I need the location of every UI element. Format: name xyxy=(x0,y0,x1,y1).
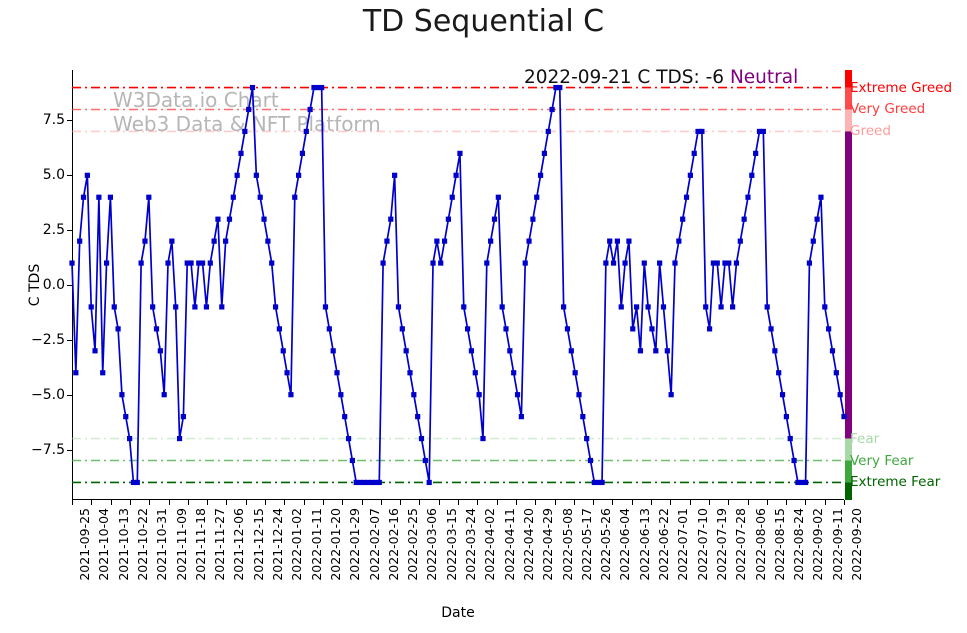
series-marker xyxy=(684,195,689,200)
y-axis-tick-label: 0.0 xyxy=(43,277,65,293)
series-marker xyxy=(615,239,620,244)
series-marker xyxy=(139,260,144,265)
x-axis-tick-mark xyxy=(844,500,845,505)
series-marker xyxy=(772,348,777,353)
series-marker xyxy=(396,304,401,309)
series-marker xyxy=(384,239,389,244)
series-marker xyxy=(411,392,416,397)
series-marker xyxy=(154,326,159,331)
x-axis-tick-label: 2022-02-25 xyxy=(405,508,420,581)
series-marker xyxy=(734,260,739,265)
series-marker xyxy=(284,370,289,375)
chart-title: TD Sequential C xyxy=(0,4,967,39)
x-axis-tick-label: 2022-02-07 xyxy=(367,508,382,581)
series-marker xyxy=(407,370,412,375)
series-marker xyxy=(672,260,677,265)
x-axis-tick-label: 2021-11-09 xyxy=(174,508,189,581)
series-marker xyxy=(446,217,451,222)
x-axis-tick-label: 2022-05-26 xyxy=(598,508,613,581)
series-marker xyxy=(611,260,616,265)
series-marker xyxy=(580,414,585,419)
x-axis-tick-mark xyxy=(439,500,440,505)
x-axis-tick-mark xyxy=(709,500,710,505)
series-marker xyxy=(822,304,827,309)
x-axis-tick-label: 2022-07-01 xyxy=(675,508,690,581)
series-marker xyxy=(838,392,843,397)
x-axis-tick-mark xyxy=(149,500,150,505)
x-axis-tick-label: 2022-01-11 xyxy=(309,508,324,581)
series-marker xyxy=(818,195,823,200)
series-marker xyxy=(703,304,708,309)
x-axis-tick-label: 2022-06-22 xyxy=(656,508,671,581)
series-marker xyxy=(776,370,781,375)
series-marker xyxy=(707,326,712,331)
x-axis-tick-mark xyxy=(632,500,633,505)
series-marker xyxy=(204,304,209,309)
series-marker xyxy=(434,239,439,244)
series-marker xyxy=(599,480,604,485)
x-axis-tick-mark xyxy=(400,500,401,505)
series-marker xyxy=(826,326,831,331)
y-axis-tick-label: −5.0 xyxy=(31,387,65,403)
y-axis-tick-mark xyxy=(67,450,72,451)
x-axis-tick-mark xyxy=(555,500,556,505)
series-marker xyxy=(200,260,205,265)
y-axis-tick-label: 7.5 xyxy=(43,112,65,128)
x-axis-tick-mark xyxy=(612,500,613,505)
x-axis-tick-mark xyxy=(304,500,305,505)
series-marker xyxy=(377,480,382,485)
x-axis-tick-mark xyxy=(825,500,826,505)
series-marker xyxy=(765,304,770,309)
series-marker xyxy=(181,414,186,419)
x-axis-tick-mark xyxy=(728,500,729,505)
chart-page: TD Sequential C W3Data.io Chart Web3 Dat… xyxy=(0,0,967,633)
y-axis-tick-mark xyxy=(67,395,72,396)
series-marker xyxy=(277,326,282,331)
series-marker xyxy=(815,217,820,222)
x-axis-tick-label: 2021-11-27 xyxy=(212,508,227,581)
series-marker xyxy=(834,370,839,375)
series-marker xyxy=(450,195,455,200)
series-marker xyxy=(292,195,297,200)
zone-label: Fear xyxy=(850,431,879,447)
series-marker xyxy=(150,304,155,309)
series-marker xyxy=(511,370,516,375)
x-axis-tick-label: 2022-04-20 xyxy=(521,508,536,581)
series-marker xyxy=(807,260,812,265)
series-marker xyxy=(261,217,266,222)
x-axis-tick-mark xyxy=(535,500,536,505)
y-axis-tick-label: −2.5 xyxy=(31,332,65,348)
series-marker xyxy=(388,217,393,222)
series-marker xyxy=(223,239,228,244)
series-line xyxy=(72,88,844,483)
series-marker xyxy=(742,217,747,222)
series-marker xyxy=(565,326,570,331)
x-axis-tick-mark xyxy=(690,500,691,505)
x-axis-tick-mark xyxy=(111,500,112,505)
x-axis-tick-label: 2022-03-24 xyxy=(463,508,478,581)
series-marker xyxy=(346,436,351,441)
series-marker xyxy=(588,458,593,463)
series-marker xyxy=(642,260,647,265)
x-axis-tick-label: 2022-07-10 xyxy=(695,508,710,581)
series-marker xyxy=(269,260,274,265)
series-marker xyxy=(477,392,482,397)
x-axis-tick-mark xyxy=(323,500,324,505)
series-marker xyxy=(653,348,658,353)
y-axis-tick-mark xyxy=(67,120,72,121)
series-marker xyxy=(768,326,773,331)
x-axis-tick-label: 2021-10-13 xyxy=(116,508,131,581)
series-marker xyxy=(649,326,654,331)
series-marker xyxy=(788,436,793,441)
x-axis-tick-label: 2022-01-02 xyxy=(289,508,304,581)
series-marker xyxy=(231,195,236,200)
x-axis-tick-label: 2022-04-29 xyxy=(540,508,555,581)
series-marker xyxy=(453,173,458,178)
series-marker xyxy=(162,392,167,397)
x-axis-tick-label: 2022-07-28 xyxy=(733,508,748,581)
series-marker xyxy=(715,260,720,265)
series-marker xyxy=(227,217,232,222)
series-marker xyxy=(519,414,524,419)
x-axis-tick-mark xyxy=(670,500,671,505)
x-axis-tick-label: 2022-04-02 xyxy=(482,508,497,581)
series-marker xyxy=(718,304,723,309)
x-axis-tick-mark xyxy=(651,500,652,505)
series-marker xyxy=(342,414,347,419)
x-axis-tick-mark xyxy=(477,500,478,505)
series-marker xyxy=(692,151,697,156)
series-marker xyxy=(127,436,132,441)
series-marker xyxy=(626,239,631,244)
series-marker xyxy=(457,151,462,156)
series-marker xyxy=(526,239,531,244)
x-axis-tick-mark xyxy=(381,500,382,505)
zone-label: Very Greed xyxy=(850,101,925,117)
series-marker xyxy=(646,304,651,309)
x-axis-tick-label: 2022-01-20 xyxy=(328,508,343,581)
series-marker xyxy=(215,217,220,222)
series-marker xyxy=(400,326,405,331)
series-marker xyxy=(142,239,147,244)
series-marker xyxy=(638,348,643,353)
series-marker xyxy=(85,173,90,178)
series-marker xyxy=(350,458,355,463)
plot-area: −7.5−5.0−2.50.02.55.07.5 2021-09-252021-… xyxy=(72,70,844,500)
series-marker xyxy=(92,348,97,353)
series-marker xyxy=(250,85,255,90)
series-marker xyxy=(496,195,501,200)
series-marker xyxy=(534,195,539,200)
series-marker xyxy=(308,107,313,112)
series-marker xyxy=(603,260,608,265)
x-axis-tick-mark xyxy=(593,500,594,505)
series-marker xyxy=(841,414,846,419)
series-marker xyxy=(488,239,493,244)
y-axis-tick-label: −7.5 xyxy=(31,442,65,458)
series-marker xyxy=(665,348,670,353)
x-axis-tick-mark xyxy=(458,500,459,505)
x-axis-tick-label: 2021-12-06 xyxy=(231,508,246,581)
series-marker xyxy=(100,370,105,375)
y-axis-label: C TDS xyxy=(27,264,43,306)
series-marker xyxy=(258,195,263,200)
series-marker xyxy=(546,129,551,134)
x-axis-tick-label: 2022-09-02 xyxy=(810,508,825,581)
series-marker xyxy=(749,173,754,178)
series-marker xyxy=(461,304,466,309)
series-marker xyxy=(811,239,816,244)
x-axis-tick-label: 2021-09-25 xyxy=(77,508,92,581)
x-axis-tick-mark xyxy=(91,500,92,505)
x-axis-tick-mark xyxy=(130,500,131,505)
series-marker xyxy=(427,480,432,485)
x-axis-tick-label: 2022-04-11 xyxy=(502,508,517,581)
series-marker xyxy=(661,304,666,309)
series-marker xyxy=(730,304,735,309)
x-axis-tick-label: 2022-08-24 xyxy=(791,508,806,581)
x-axis-tick-label: 2022-07-19 xyxy=(714,508,729,581)
series-marker xyxy=(338,392,343,397)
series-marker xyxy=(753,151,758,156)
x-axis-tick-mark xyxy=(342,500,343,505)
series-marker xyxy=(669,392,674,397)
x-axis-tick-mark xyxy=(805,500,806,505)
series-marker xyxy=(158,348,163,353)
series-marker xyxy=(634,304,639,309)
series-marker xyxy=(188,260,193,265)
series-marker xyxy=(442,239,447,244)
x-axis-tick-mark xyxy=(207,500,208,505)
x-axis-tick-mark xyxy=(767,500,768,505)
series-marker xyxy=(515,392,520,397)
x-axis-tick-label: 2022-08-15 xyxy=(772,508,787,581)
series-marker xyxy=(584,436,589,441)
y-axis-tick-mark xyxy=(67,230,72,231)
series-marker xyxy=(738,239,743,244)
series-marker xyxy=(208,260,213,265)
series-marker xyxy=(423,458,428,463)
series-marker xyxy=(288,392,293,397)
y-axis-tick-mark xyxy=(67,285,72,286)
series-marker xyxy=(165,260,170,265)
series-marker xyxy=(688,173,693,178)
series-marker xyxy=(761,129,766,134)
x-axis-tick-label: 2022-02-16 xyxy=(386,508,401,581)
series-marker xyxy=(561,304,566,309)
series-marker xyxy=(430,260,435,265)
series-marker xyxy=(296,173,301,178)
y-axis-tick-label: 5.0 xyxy=(43,167,65,183)
x-axis-tick-mark xyxy=(497,500,498,505)
series-marker xyxy=(657,260,662,265)
series-marker xyxy=(173,304,178,309)
series-marker xyxy=(331,348,336,353)
series-marker xyxy=(77,239,82,244)
series-marker xyxy=(507,348,512,353)
series-marker xyxy=(123,414,128,419)
x-axis-tick-label: 2022-03-06 xyxy=(424,508,439,581)
zone-label: Extreme Fear xyxy=(850,474,940,490)
series-marker xyxy=(680,217,685,222)
x-axis-tick-mark xyxy=(748,500,749,505)
x-axis-tick-mark xyxy=(786,500,787,505)
series-marker xyxy=(69,260,74,265)
series-marker xyxy=(607,239,612,244)
series-marker xyxy=(192,304,197,309)
x-axis-tick-mark xyxy=(246,500,247,505)
y-axis-tick-mark xyxy=(67,175,72,176)
series-marker xyxy=(96,195,101,200)
series-marker xyxy=(304,129,309,134)
series-marker xyxy=(235,173,240,178)
zone-label: Very Fear xyxy=(850,453,913,469)
series-marker xyxy=(557,85,562,90)
zone-label: Extreme Greed xyxy=(850,80,952,96)
series-marker xyxy=(699,129,704,134)
x-axis-tick-label: 2021-12-15 xyxy=(251,508,266,581)
x-axis-tick-label: 2022-09-11 xyxy=(830,508,845,581)
series-marker xyxy=(246,107,251,112)
series-marker xyxy=(177,436,182,441)
x-axis-tick-label: 2022-05-17 xyxy=(579,508,594,581)
series-marker xyxy=(523,260,528,265)
series-marker xyxy=(438,260,443,265)
series-marker xyxy=(73,370,78,375)
series-marker xyxy=(745,195,750,200)
x-axis-tick-mark xyxy=(188,500,189,505)
series-marker xyxy=(784,414,789,419)
series-marker xyxy=(265,239,270,244)
series-marker xyxy=(622,260,627,265)
series-marker xyxy=(404,348,409,353)
series-marker xyxy=(327,326,332,331)
x-axis-tick-label: 2022-09-20 xyxy=(849,508,864,581)
series-marker xyxy=(569,348,574,353)
series-marker xyxy=(576,392,581,397)
series-marker xyxy=(419,436,424,441)
series-marker xyxy=(104,260,109,265)
series-marker xyxy=(500,304,505,309)
series-marker xyxy=(115,326,120,331)
series-marker xyxy=(300,151,305,156)
x-axis-tick-mark xyxy=(362,500,363,505)
series-marker xyxy=(169,239,174,244)
zone-label: Greed xyxy=(850,123,891,139)
series-marker xyxy=(219,304,224,309)
series-marker xyxy=(538,173,543,178)
zone-band-segment xyxy=(845,131,852,438)
series-marker xyxy=(242,129,247,134)
x-axis-tick-label: 2022-06-13 xyxy=(637,508,652,581)
series-marker xyxy=(89,304,94,309)
series-marker xyxy=(323,304,328,309)
series-marker xyxy=(484,260,489,265)
x-axis-tick-mark xyxy=(72,500,73,505)
series-marker xyxy=(273,304,278,309)
series-marker xyxy=(334,370,339,375)
x-axis-tick-label: 2021-12-24 xyxy=(270,508,285,581)
x-axis-tick-label: 2021-11-18 xyxy=(193,508,208,581)
x-axis-tick-mark xyxy=(226,500,227,505)
series-marker xyxy=(135,480,140,485)
series-marker xyxy=(803,480,808,485)
series-marker xyxy=(791,458,796,463)
x-axis-tick-label: 2022-06-04 xyxy=(617,508,632,581)
series-marker xyxy=(212,239,217,244)
series-marker xyxy=(780,392,785,397)
series-marker xyxy=(392,173,397,178)
series-marker xyxy=(480,436,485,441)
x-axis-tick-mark xyxy=(265,500,266,505)
x-axis-tick-mark xyxy=(419,500,420,505)
series-marker xyxy=(319,85,324,90)
series-marker xyxy=(81,195,86,200)
series-marker xyxy=(542,151,547,156)
series-marker xyxy=(238,151,243,156)
x-axis-tick-label: 2021-10-04 xyxy=(96,508,111,581)
series-marker xyxy=(473,370,478,375)
series-marker xyxy=(254,173,259,178)
y-axis-tick-mark xyxy=(67,340,72,341)
series-marker xyxy=(503,326,508,331)
x-axis-tick-mark xyxy=(284,500,285,505)
series-marker xyxy=(146,195,151,200)
x-axis-tick-label: 2021-10-22 xyxy=(135,508,150,581)
series-marker xyxy=(573,370,578,375)
series-marker xyxy=(469,348,474,353)
series-marker xyxy=(415,414,420,419)
series-marker xyxy=(281,348,286,353)
x-axis-tick-label: 2021-10-31 xyxy=(154,508,169,581)
x-axis-tick-label: 2022-03-15 xyxy=(444,508,459,581)
x-axis-tick-label: 2022-05-08 xyxy=(560,508,575,581)
tds-series xyxy=(72,70,844,500)
series-marker xyxy=(630,326,635,331)
series-marker xyxy=(119,392,124,397)
series-marker xyxy=(381,260,386,265)
series-marker xyxy=(492,217,497,222)
series-marker xyxy=(530,217,535,222)
y-axis-tick-label: 2.5 xyxy=(43,222,65,238)
series-marker xyxy=(619,304,624,309)
x-axis-tick-mark xyxy=(169,500,170,505)
x-axis-tick-label: 2022-01-29 xyxy=(347,508,362,581)
series-marker xyxy=(676,239,681,244)
series-marker xyxy=(830,348,835,353)
series-marker xyxy=(108,195,113,200)
x-axis-tick-mark xyxy=(516,500,517,505)
series-marker xyxy=(112,304,117,309)
series-marker xyxy=(550,107,555,112)
series-marker xyxy=(726,260,731,265)
x-axis-tick-mark xyxy=(574,500,575,505)
x-axis-tick-label: 2022-08-06 xyxy=(753,508,768,581)
x-axis-label: Date xyxy=(72,605,844,621)
series-marker xyxy=(465,326,470,331)
